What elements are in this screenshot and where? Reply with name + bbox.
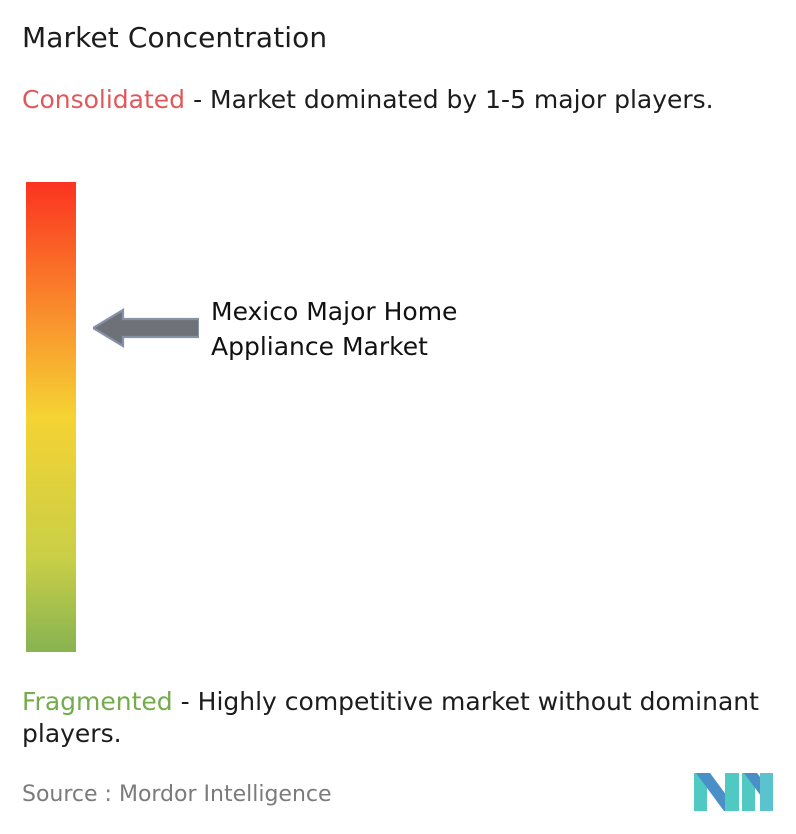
legend-consolidated-term: Consolidated <box>22 85 185 114</box>
arrow-left-icon <box>93 306 199 350</box>
source-attribution: Source : Mordor Intelligence <box>22 781 332 809</box>
mordor-intelligence-logo <box>694 769 774 815</box>
legend-consolidated-description: - Market dominated by 1-5 major players. <box>193 85 714 114</box>
page-title: Market Concentration <box>22 20 327 56</box>
concentration-gradient-bar <box>26 182 76 652</box>
legend-consolidated: Consolidated- Market dominated by 1-5 ma… <box>22 84 778 116</box>
legend-fragmented-term: Fragmented <box>22 687 173 716</box>
market-concentration-infographic: Market Concentration Consolidated- Marke… <box>0 0 796 834</box>
legend-fragmented: Fragmented- Highly competitive market wi… <box>22 686 786 750</box>
callout-label: Mexico Major Home Appliance Market <box>211 294 551 364</box>
